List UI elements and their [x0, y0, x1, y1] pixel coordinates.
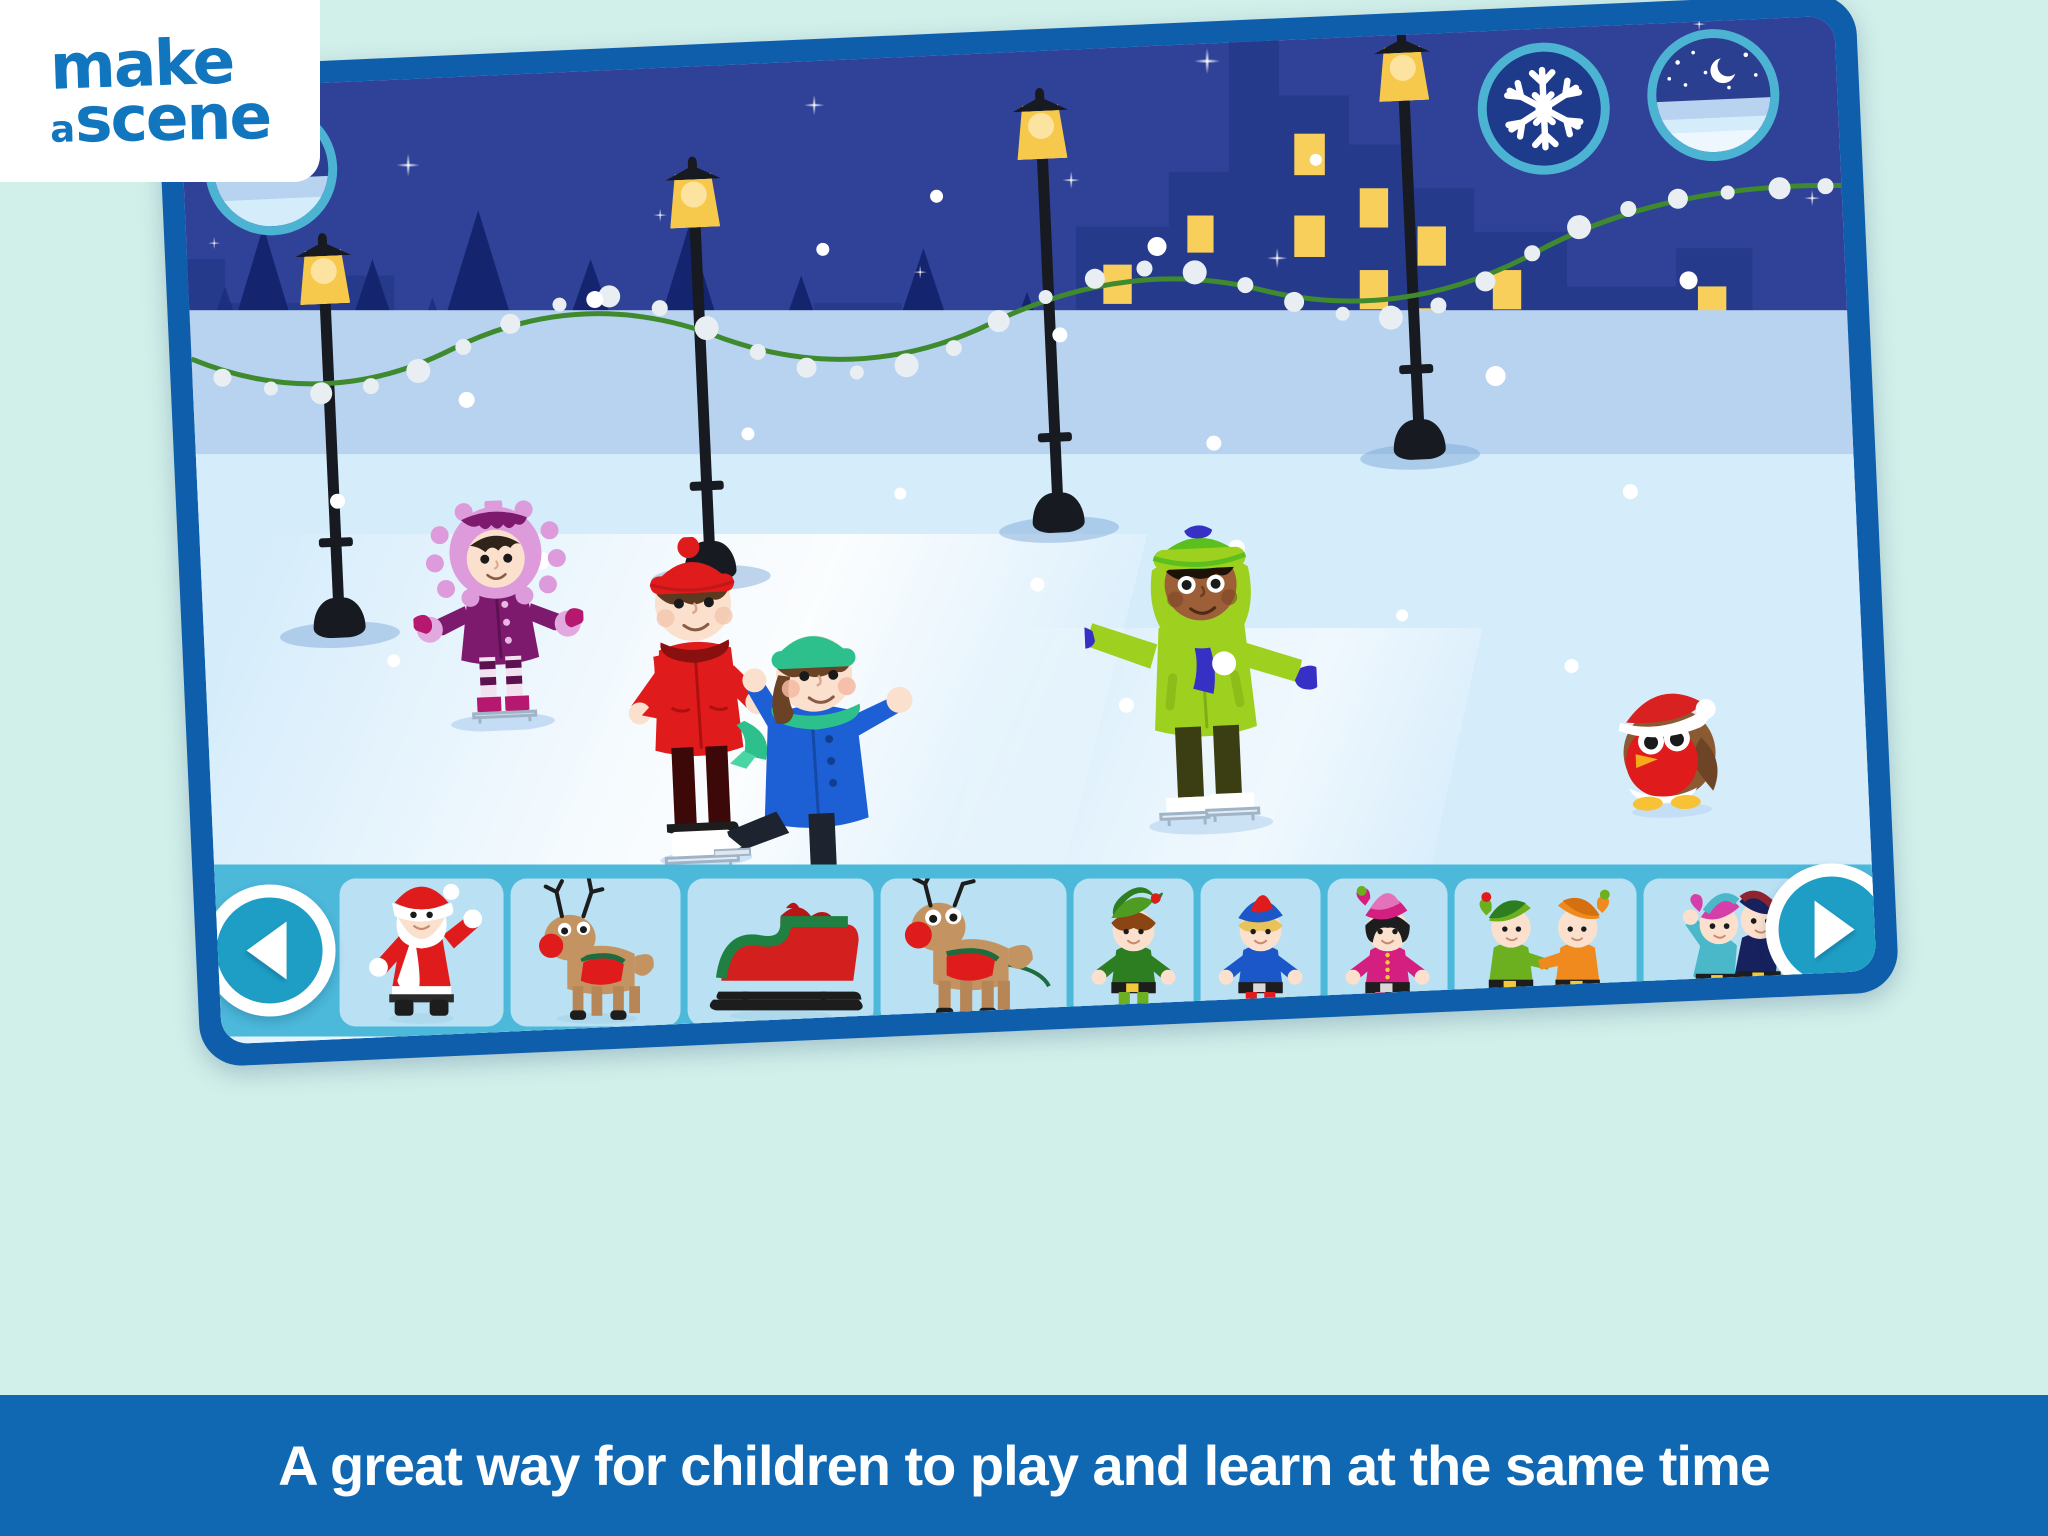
sticker-santa[interactable]: [339, 878, 503, 1026]
sticker-reindeer[interactable]: [510, 878, 680, 1026]
chevron-right-icon: [1815, 900, 1855, 958]
star-icon: [799, 90, 829, 120]
star-icon: [910, 262, 930, 282]
star-icon: [1800, 186, 1824, 210]
snow-fleck: [387, 654, 401, 668]
caption-bar: A great way for children to play and lea…: [0, 1395, 2048, 1536]
snow-fleck: [1310, 153, 1323, 166]
night-scene-thumbnail-icon: [1654, 36, 1773, 155]
app-logo: make ascene: [50, 36, 270, 147]
snow-fleck: [1485, 365, 1506, 386]
chevron-left-icon: [246, 921, 286, 979]
sticker-sleigh[interactable]: [687, 878, 873, 1026]
sticker-reindeer-harness[interactable]: [880, 878, 1066, 1026]
star-icon: [205, 234, 223, 252]
child-green-jacket-skater[interactable]: [1080, 509, 1324, 839]
app-logo-card: make ascene: [0, 0, 320, 182]
caption-text: A great way for children to play and lea…: [278, 1433, 1770, 1498]
tablet-screen: [180, 16, 1877, 1045]
logo-word-scene: scene: [74, 80, 270, 156]
star-icon: [391, 148, 425, 182]
star-icon: [520, 16, 542, 27]
logo-line-scene: ascene: [49, 89, 270, 148]
app-root: make ascene A great way for children to …: [0, 0, 2048, 1536]
tablet-device: [157, 0, 1900, 1067]
snowflake-icon: [1496, 61, 1592, 157]
star-icon: [1188, 43, 1226, 81]
child-purple-hood-skater[interactable]: [408, 497, 588, 734]
logo-letter-a: a: [50, 108, 74, 151]
robin-with-santa-hat[interactable]: [1602, 676, 1743, 822]
star-icon: [1262, 243, 1292, 273]
night-scene-button[interactable]: [1644, 26, 1782, 164]
prev-button[interactable]: [203, 884, 335, 1016]
snow-fleck: [894, 488, 907, 501]
